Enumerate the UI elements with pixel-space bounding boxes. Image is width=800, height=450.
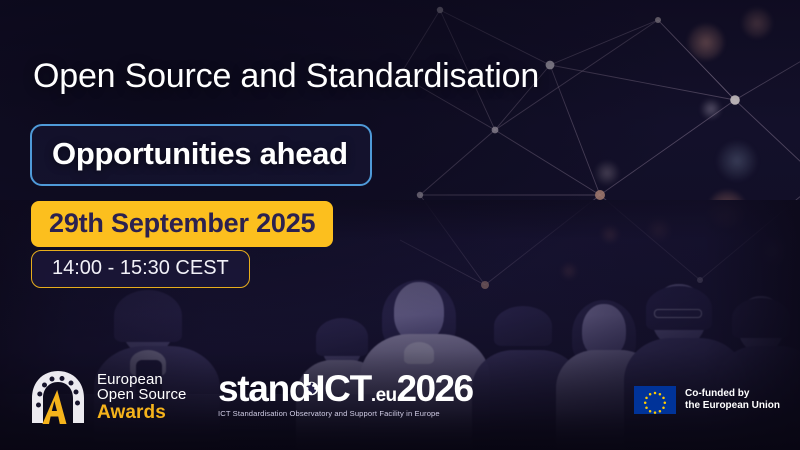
eu-funding-notice: Co-funded by the European Union: [634, 386, 780, 414]
eosa-line-3: Awards: [97, 403, 187, 423]
time-badge: 14:00 - 15:30 CEST: [31, 250, 250, 288]
eosa-wordmark: European Open Source Awards: [97, 372, 187, 422]
standict-word-ict: ICT: [315, 370, 371, 407]
standict-tagline: ICT Standardisation Observatory and Supp…: [218, 409, 472, 418]
date-text: 29th September 2025: [49, 208, 315, 239]
date-badge: 29th September 2025: [31, 201, 333, 247]
time-text: 14:00 - 15:30 CEST: [52, 257, 229, 280]
eosa-line-1: European: [97, 372, 187, 387]
eosa-line-2: Open Source: [97, 387, 187, 402]
arch-with-stars-and-letter-a-icon: [28, 368, 88, 426]
standict-domain: .eu: [371, 386, 397, 405]
european-union-flag-icon: [634, 386, 676, 414]
subtitle-box: Opportunities ahead: [30, 124, 372, 186]
page-title: Open Source and Standardisation: [33, 57, 539, 96]
standict-year: 2026: [397, 370, 473, 407]
standict-word-stand: stand: [218, 370, 310, 407]
event-banner: Open Source and Standardisation Opportun…: [0, 0, 800, 450]
eu-funding-line-1: Co-funded by: [685, 388, 780, 401]
standict-logo: stand ICT .eu 2026 ICT Standardisation O…: [218, 370, 472, 418]
eu-funding-text: Co-funded by the European Union: [685, 388, 780, 413]
globe-icon: [304, 381, 319, 396]
european-open-source-awards-logo: European Open Source Awards: [28, 368, 187, 426]
subtitle-text: Opportunities ahead: [52, 136, 348, 172]
eu-funding-line-2: the European Union: [685, 400, 780, 413]
